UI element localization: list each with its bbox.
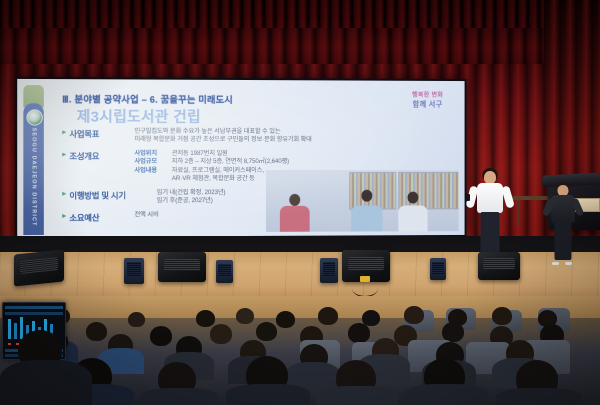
curtain-valance — [0, 0, 600, 28]
slide-row: 사업목표 인구밀집도와 문화 수요가 높은 서남부권을 대표할 수 있는 미래형… — [62, 128, 392, 145]
floor-monitor-speaker — [478, 252, 520, 280]
slide-row-line: 사업규모지하 2층 – 지상 5층, 연면적 8,750㎡(2,640평) — [134, 158, 289, 166]
slide-row-line: 임기 후(준공, 2027년) — [157, 197, 226, 206]
brand-bar-label: SEOGU DAEJEON DISTRICT — [31, 128, 37, 227]
presentation-slide: SEOGU DAEJEON DISTRICT Ⅲ. 분야별 공약사업 – 6. … — [17, 79, 464, 237]
floor-monitor-speaker — [158, 252, 206, 282]
slide-row-body: 임기 내(건립 확정, 2023년) 임기 후(준공, 2027년) — [157, 189, 226, 206]
slogan-logo: 행복한 변화 함께 서구 — [412, 93, 443, 108]
brand-bar: SEOGU DAEJEON DISTRICT — [23, 103, 43, 235]
slide-row-label: 사업목표 — [69, 128, 130, 140]
stage-speaker-small — [430, 258, 446, 280]
district-emblem-icon — [26, 109, 42, 125]
slide-row-label: 조성개요 — [69, 150, 130, 162]
presenter — [470, 168, 510, 260]
bullet-icon — [62, 214, 66, 218]
sign-language-interpreter — [546, 182, 580, 264]
stage-cable — [352, 280, 378, 297]
slide-title: 제3시립도서관 건립 — [77, 105, 201, 126]
bullet-icon — [62, 130, 66, 134]
floor-monitor-speaker — [14, 249, 64, 286]
slide-row-body: 인구밀집도와 문화 수요가 높은 서남부권을 대표할 수 있는 미래형 복합문화… — [134, 128, 311, 145]
slide-row-label: 소요예산 — [69, 211, 130, 223]
slide-photo-library — [266, 170, 459, 232]
stage-speaker-small — [320, 258, 338, 283]
curtain-swag — [0, 22, 600, 64]
slide-row-line: 전액 시비 — [134, 211, 158, 220]
slide-kicker: Ⅲ. 분야별 공약사업 – 6. 꿈을꾸는 미래도시 — [62, 91, 233, 106]
slogan-line-2: 함께 서구 — [412, 100, 443, 107]
slogan-line-1: 행복한 변화 — [412, 93, 443, 99]
slide-row-body: 전액 시비 — [134, 211, 158, 220]
audience-member-foreground-shoulders — [0, 360, 92, 405]
stage-speaker-small — [124, 258, 144, 284]
stage-speaker-small — [216, 260, 233, 283]
auditorium-presentation-photo: SEOGU DAEJEON DISTRICT Ⅲ. 분야별 공약사업 – 6. … — [0, 0, 600, 405]
projection-screen: SEOGU DAEJEON DISTRICT Ⅲ. 분야별 공약사업 – 6. … — [15, 77, 466, 239]
slide-row-label: 이행방법 및 시기 — [69, 189, 152, 201]
bullet-icon — [62, 152, 66, 156]
slide-row-line: 미래형 복합문화 거점 공간 조성으로 구민들의 정보·문화 향유기회 확대 — [134, 136, 311, 145]
handheld-microphone — [466, 194, 470, 201]
bullet-icon — [62, 192, 66, 196]
